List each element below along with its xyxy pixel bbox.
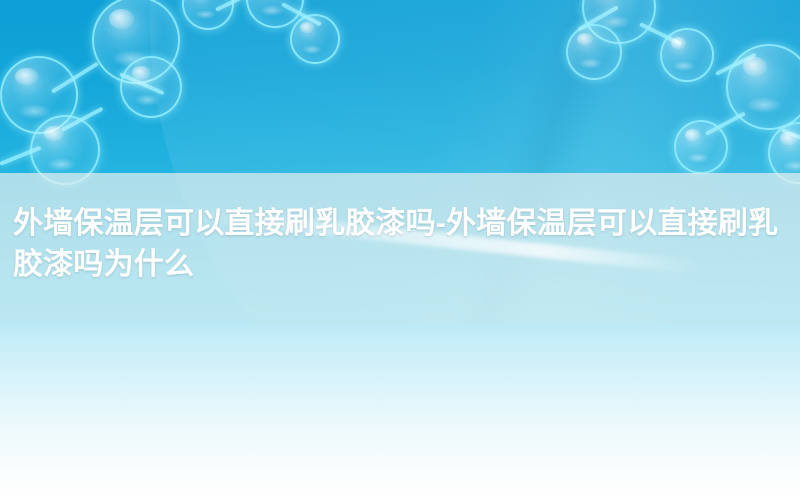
title-overlay-band: 外墙保温层可以直接刷乳胶漆吗-外墙保温层可以直接刷乳胶漆吗为什么: [0, 173, 800, 325]
lower-gradient-area: [0, 320, 800, 500]
bubble-top-3-icon: [290, 14, 340, 64]
bubble-right-3-icon: [660, 28, 714, 82]
bubble-right-2-icon: [566, 24, 622, 80]
bubble-left-3-icon: [120, 56, 182, 118]
page-title: 外墙保温层可以直接刷乳胶漆吗-外墙保温层可以直接刷乳胶漆吗为什么: [13, 203, 788, 285]
banner-image: 外墙保温层可以直接刷乳胶漆吗-外墙保温层可以直接刷乳胶漆吗为什么: [0, 0, 800, 500]
bubble-right-5-icon: [674, 120, 728, 174]
